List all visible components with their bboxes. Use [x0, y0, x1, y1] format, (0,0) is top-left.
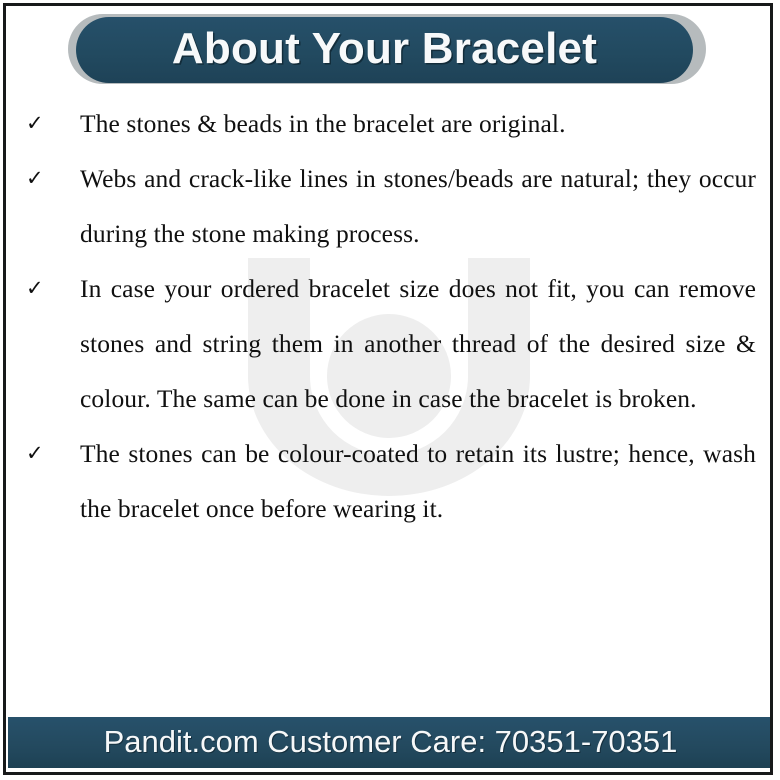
footer-bar: Pandit.com Customer Care: 70351-70351	[8, 717, 773, 768]
list-item-text: In case your ordered bracelet size does …	[80, 261, 756, 426]
header: About Your Bracelet	[0, 0, 780, 95]
checkmark-icon: ✓	[26, 151, 56, 206]
list-item: ✓ In case your ordered bracelet size doe…	[0, 261, 780, 426]
customer-care-text: Pandit.com Customer Care: 70351-70351	[104, 726, 678, 759]
bracelet-info-list: ✓ The stones & beads in the bracelet are…	[0, 96, 780, 714]
list-item: ✓ Webs and crack-like lines in stones/be…	[0, 151, 780, 261]
list-item: ✓ The stones & beads in the bracelet are…	[0, 96, 780, 151]
about-your-bracelet-card: About Your Bracelet ✓ The stones & beads…	[0, 0, 780, 780]
checkmark-icon: ✓	[26, 96, 56, 151]
list-item: ✓ The stones can be colour-coated to ret…	[0, 426, 780, 536]
list-item-text: Webs and crack-like lines in stones/bead…	[80, 151, 756, 261]
page-title: About Your Bracelet	[172, 27, 597, 74]
checkmark-icon: ✓	[26, 261, 56, 316]
checkmark-icon: ✓	[26, 426, 56, 481]
header-pill: About Your Bracelet	[76, 17, 693, 83]
list-item-text: The stones & beads in the bracelet are o…	[80, 96, 756, 151]
list-item-text: The stones can be colour-coated to retai…	[80, 426, 756, 536]
